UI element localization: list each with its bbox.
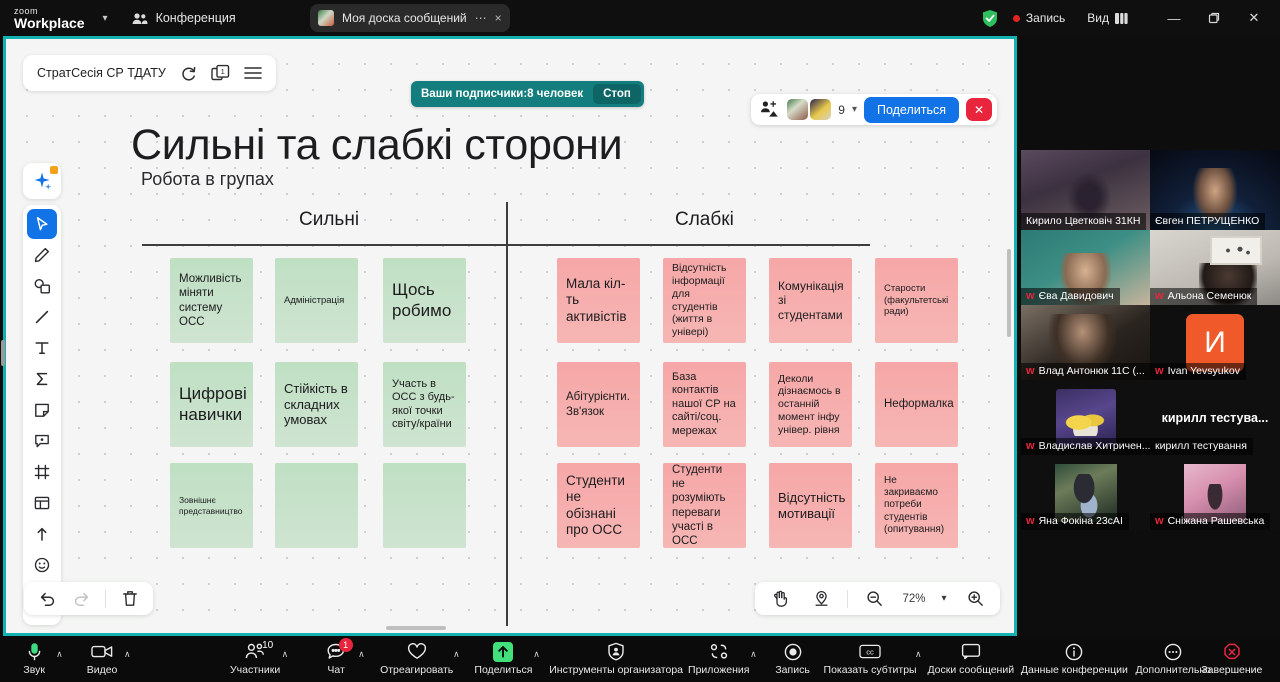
hand-tool[interactable]	[765, 584, 795, 614]
reactions-label: Отреагировать	[380, 664, 453, 676]
sticky-note[interactable]: Стійкість в складних умовах	[275, 362, 358, 447]
ai-assistant-button[interactable]	[23, 163, 61, 199]
upload-tool[interactable]	[27, 519, 57, 549]
comment-tool[interactable]	[27, 426, 57, 456]
muted-microphone-icon: w	[1026, 440, 1035, 452]
participant-name-label: w Яна Фокіна 23сАI	[1021, 513, 1129, 530]
horizontal-scrollbar[interactable]	[386, 626, 446, 630]
participant-avatars	[787, 99, 831, 120]
participant-name: кирилл тестування	[1155, 440, 1247, 452]
sticky-note-text: Абітурієнти. Зв'язок	[566, 390, 631, 418]
participant-count: 9	[838, 103, 845, 117]
sticky-note[interactable]	[275, 463, 358, 548]
vertical-scrollbar[interactable]	[1007, 249, 1011, 337]
location-tool[interactable]	[806, 584, 836, 614]
subscribers-banner: Ваши подписчики:8 человек Стоп	[411, 81, 644, 107]
chevron-down-icon[interactable]: ▾	[852, 104, 857, 115]
tab-close-icon[interactable]: ×	[495, 11, 502, 25]
redo-button[interactable]	[66, 584, 96, 614]
whiteboard-tool-stack	[23, 205, 61, 625]
reactions-button[interactable]: Отреагировать	[385, 643, 448, 676]
sticky-note-text: База контактів нашої СР на сайті/соц. ме…	[672, 371, 737, 438]
participant-name: Влад Антонюк 11С (...	[1039, 365, 1145, 377]
sticky-note-text: Не закриваємо потреби студентів (опитува…	[884, 475, 949, 536]
video-tile[interactable]: Євген ПЕТРУЩЕНКО	[1150, 150, 1280, 230]
video-tile[interactable]: w Владислав Хитричен...	[1021, 380, 1150, 455]
participant-name-label: w Єва Давидович	[1021, 288, 1120, 305]
sticky-note-text: Відсутність мотивації	[778, 490, 843, 522]
sticky-note-text: Старости (факультетські ради)	[884, 283, 949, 318]
sticky-note[interactable]: Цифрові навички	[170, 362, 253, 447]
sticky-note[interactable]: Відсутність мотивації	[769, 463, 852, 548]
video-row: w Яна Фокіна 23сАI w Сніжана Рашевська	[1021, 455, 1280, 530]
host-tools-button[interactable]: Инструменты организатора	[559, 643, 674, 676]
muted-microphone-icon: w	[1155, 515, 1164, 527]
vertical-divider	[506, 202, 508, 626]
whiteboard-tab[interactable]: Моя доска сообщений ⋯ ×	[310, 4, 510, 32]
whiteboard-header-chip: СтратСесія СР ТДАТУ 1	[23, 55, 276, 91]
audio-button[interactable]: Звук	[17, 643, 51, 676]
sticky-note[interactable]: Абітурієнти. Зв'язок	[557, 362, 640, 447]
muted-microphone-icon: w	[1155, 365, 1164, 377]
title-bar-right-controls: Запись Вид — ✕	[981, 0, 1280, 36]
share-screen-icon	[493, 643, 513, 661]
text-tool[interactable]	[27, 333, 57, 363]
sticky-note[interactable]: Адміністрація	[275, 258, 358, 343]
zoom-controls: 72% ▾	[755, 582, 1000, 615]
video-tile[interactable]: w Альона Семенюк	[1150, 230, 1280, 305]
video-tile[interactable]: w Влад Антонюк 11С (...	[1021, 305, 1150, 380]
apps-options-caret[interactable]: ∧	[750, 649, 757, 660]
sticky-note[interactable]	[383, 463, 466, 548]
sticky-note-tool[interactable]	[27, 395, 57, 425]
participant-name: Сніжана Рашевська	[1168, 515, 1265, 527]
captions-icon: cc	[859, 643, 881, 661]
pen-tool[interactable]	[27, 240, 57, 270]
zoom-app-window: zoom Workplace ▾ Конференция Моя доска с…	[0, 0, 1280, 682]
participant-name-label: кирилл тестування	[1150, 438, 1253, 455]
more-icon	[1164, 643, 1182, 661]
captions-button[interactable]: cc Показать субтитры	[830, 643, 910, 676]
host-tools-label: Инструменты организатора	[549, 664, 683, 676]
whiteboard-canvas[interactable]: Сильні та слабкі сторони Робота в групах…	[6, 39, 1014, 633]
meeting-info-label: Данные конференции	[1021, 664, 1128, 676]
participant-name-label: w Владислав Хитричен...	[1021, 438, 1150, 455]
participant-name: Ivan Yevsyukov	[1168, 365, 1240, 377]
avatar	[787, 99, 808, 120]
record-dot-icon	[1013, 15, 1020, 22]
sticky-note[interactable]: База контактів нашої СР на сайті/соц. ме…	[663, 362, 746, 447]
participant-name-label: w Сніжана Рашевська	[1150, 513, 1270, 530]
chevron-down-icon[interactable]: ▾	[103, 13, 108, 24]
delete-button[interactable]	[115, 584, 145, 614]
refresh-icon[interactable]	[180, 65, 197, 82]
emoji-tool[interactable]	[27, 550, 57, 580]
zoom-divider	[847, 590, 848, 608]
whiteboard-icon	[961, 643, 981, 661]
video-row: w Владислав Хитричен... кирилл тестува..…	[1021, 380, 1280, 455]
participant-name: Владислав Хитричен...	[1039, 440, 1150, 452]
video-row: w Влад Антонюк 11С (... И w Ivan Yevsyuk…	[1021, 305, 1280, 380]
video-tile[interactable]: w Сніжана Рашевська	[1150, 455, 1280, 530]
participants-label: Участники	[230, 664, 280, 676]
sticky-note[interactable]: Мала кіл-ть активістів	[557, 258, 640, 343]
participant-video-strip: Кирило Цветковіч 31КН Євген ПЕТРУЩЕНКО w…	[1021, 150, 1280, 530]
end-meeting-button[interactable]: Завершение	[1206, 643, 1258, 676]
video-row: Кирило Цветковіч 31КН Євген ПЕТРУЩЕНКО	[1021, 150, 1280, 230]
participants-options-caret[interactable]: ∧	[282, 649, 289, 660]
share-button[interactable]: Поделиться	[864, 97, 959, 123]
captions-options-caret[interactable]: ∧	[915, 649, 922, 660]
end-meeting-label: Завершение	[1201, 664, 1262, 676]
column-heading-weak: Слабкі	[675, 209, 734, 231]
participant-name: Альона Семенюк	[1168, 290, 1252, 302]
record-button[interactable]: Запись	[776, 643, 810, 676]
apps-icon	[709, 643, 729, 661]
heart-icon	[407, 643, 427, 661]
chat-options-caret[interactable]: ∧	[358, 649, 365, 660]
muted-microphone-icon: w	[1026, 515, 1035, 527]
zoom-level: 72%	[900, 593, 928, 605]
participant-name: Яна Фокіна 23сАI	[1039, 515, 1123, 527]
column-heading-strong: Сильні	[299, 209, 359, 231]
minimize-button[interactable]: —	[1154, 0, 1194, 36]
zoom-in-button[interactable]	[960, 584, 990, 614]
video-tile[interactable]: Кирило Цветковіч 31КН	[1021, 150, 1150, 230]
sticky-note[interactable]: Участь в ОСС з будь-якої точки світу/кра…	[383, 362, 466, 447]
select-tool[interactable]	[27, 209, 57, 239]
svg-text:1: 1	[220, 67, 224, 76]
participant-name-label: w Альона Семенюк	[1150, 288, 1257, 305]
sticky-note-text: Цифрові навички	[179, 384, 244, 425]
sticky-note-text: Студенти не обізнані про ОСС	[566, 473, 631, 539]
frame-tool[interactable]	[27, 457, 57, 487]
meeting-toolbar: Звук ∧ Видео ∧ 10 Участники ∧ 1 Чат	[0, 636, 1280, 682]
apps-button[interactable]: Приложения	[692, 643, 745, 676]
muted-microphone-icon: w	[1155, 290, 1164, 302]
microphone-icon	[27, 643, 42, 661]
sticky-note-text: Щось робимо	[392, 280, 457, 321]
participant-name-label: Євген ПЕТРУЩЕНКО	[1150, 213, 1265, 230]
security-shield-icon[interactable]	[981, 9, 999, 28]
chat-icon: 1	[327, 643, 346, 661]
more-button[interactable]: Дополнительно	[1141, 643, 1206, 676]
chat-label: Чат	[327, 664, 344, 676]
more-label: Дополнительно	[1135, 664, 1211, 676]
share-options-caret[interactable]: ∧	[533, 649, 540, 660]
sticky-note[interactable]: Комунікація зі студентами	[769, 258, 852, 343]
pages-icon[interactable]: 1	[211, 64, 230, 82]
muted-microphone-icon: w	[1026, 290, 1035, 302]
participants-icon	[132, 12, 148, 25]
undo-button[interactable]	[32, 584, 62, 614]
whiteboards-label: Доски сообщений	[927, 664, 1014, 676]
video-row: w Єва Давидович w Альона Семенюк	[1021, 230, 1280, 305]
captions-label: Показать субтитры	[824, 664, 917, 676]
chat-unread-badge: 1	[339, 638, 353, 652]
apps-label: Приложения	[688, 664, 749, 676]
participant-name-label: Кирило Цветковіч 31КН	[1021, 213, 1146, 230]
sticky-note[interactable]: Старости (факультетські ради)	[875, 258, 958, 343]
audio-label: Звук	[23, 664, 45, 676]
sticky-note[interactable]: Деколи дізнаємось в останній момент інфу…	[769, 362, 852, 447]
share-screen-button[interactable]: Поделиться	[479, 643, 529, 676]
layout-grid-icon	[1115, 13, 1128, 24]
record-label: Запись	[775, 664, 809, 676]
sticky-note-text: Мала кіл-ть активістів	[566, 276, 631, 325]
video-label: Видео	[87, 664, 118, 676]
participant-name-label: w Влад Антонюк 11С (...	[1021, 363, 1150, 380]
panel-resize-handle[interactable]	[1, 340, 5, 366]
participant-name: Євген ПЕТРУЩЕНКО	[1155, 215, 1259, 227]
whiteboard-toolbar	[23, 163, 61, 625]
sticky-note-text: Зовнішнє представництво	[179, 495, 244, 516]
info-icon	[1065, 643, 1083, 661]
sticky-note[interactable]: Студенти не обізнані про ОСС	[557, 463, 640, 548]
participant-name-label: w Ivan Yevsyukov	[1150, 363, 1246, 380]
close-button[interactable]: ✕	[1234, 0, 1274, 36]
recording-indicator[interactable]: Запись	[1013, 11, 1065, 25]
stop-share-button[interactable]: ✕	[966, 98, 992, 121]
sticky-note-text: Деколи дізнаємось в останній момент інфу…	[778, 373, 843, 437]
participant-name: Кирило Цветковіч 31КН	[1026, 215, 1140, 227]
sticky-note[interactable]: Студенти не розуміють переваги участі в …	[663, 463, 746, 548]
meeting-tab[interactable]: Конференция	[132, 11, 236, 25]
shield-icon	[607, 643, 625, 661]
participants-count: 10	[262, 640, 273, 651]
ai-badge-icon	[50, 166, 58, 174]
whiteboard-tab-label: Моя доска сообщений	[342, 11, 467, 25]
whiteboard-name: СтратСесія СР ТДАТУ	[37, 66, 166, 80]
sticky-note-text: Стійкість в складних умовах	[284, 381, 349, 429]
formula-tool[interactable]	[27, 364, 57, 394]
template-tool[interactable]	[27, 488, 57, 518]
sticky-note[interactable]: Щось робимо	[383, 258, 466, 343]
title-bar: zoom Workplace ▾ Конференция Моя доска с…	[0, 0, 1280, 36]
history-divider	[105, 590, 106, 608]
sticky-note-text: Відсутність інформації для студентів (жи…	[672, 262, 737, 339]
meeting-tab-label: Конференция	[156, 11, 236, 25]
sticky-note-text: Адміністрація	[284, 295, 349, 307]
sticky-note[interactable]: Зовнішнє представництво	[170, 463, 253, 548]
meeting-info-button[interactable]: Данные конференции	[1029, 643, 1121, 676]
reactions-options-caret[interactable]: ∧	[453, 649, 460, 660]
line-tool[interactable]	[27, 302, 57, 332]
stop-subscribers-button[interactable]: Стоп	[593, 84, 641, 104]
invite-participants-icon[interactable]	[760, 100, 780, 119]
video-tile[interactable]: w Єва Давидович	[1021, 230, 1150, 305]
chat-button[interactable]: 1 Чат	[319, 643, 353, 676]
audio-options-caret[interactable]: ∧	[56, 649, 63, 660]
zoom-out-button[interactable]	[859, 584, 889, 614]
view-button[interactable]: Вид	[1087, 11, 1128, 25]
whiteboard-tab-thumbnail-icon	[318, 10, 334, 26]
sticky-note[interactable]: Неформалка	[875, 362, 958, 447]
menu-icon[interactable]	[244, 66, 262, 80]
svg-text:cc: cc	[866, 647, 874, 656]
end-call-icon	[1223, 643, 1241, 661]
avatar	[810, 99, 831, 120]
shared-content-frame: Сильні та слабкі сторони Робота в групах…	[3, 36, 1017, 636]
tab-more-icon[interactable]: ⋯	[475, 11, 487, 25]
video-tile[interactable]: кирилл тестува... кирилл тестування	[1150, 380, 1280, 455]
participants-button[interactable]: 10 Участники	[234, 643, 277, 676]
background-map-decor	[1210, 236, 1262, 265]
sticky-note-text: Неформалка	[884, 397, 949, 411]
sticky-note-text: Можливість міняти систему ОСС	[179, 272, 244, 328]
video-options-caret[interactable]: ∧	[124, 649, 131, 660]
participants-icon: 10	[245, 643, 265, 661]
maximize-button[interactable]	[1194, 0, 1234, 36]
sticky-note[interactable]: Не закриваємо потреби студентів (опитува…	[875, 463, 958, 548]
view-label: Вид	[1087, 11, 1109, 25]
subscribers-text: Ваши подписчики:8 человек	[411, 88, 593, 100]
board-title: Сильні та слабкі сторони	[131, 121, 622, 170]
chevron-down-icon[interactable]: ▾	[939, 593, 949, 604]
share-controls-pill: 9 ▾ Поделиться ✕	[751, 94, 997, 125]
sticky-note[interactable]: Можливість міняти систему ОСС	[170, 258, 253, 343]
record-icon	[784, 643, 802, 661]
video-tile[interactable]: И w Ivan Yevsyukov	[1150, 305, 1280, 380]
recording-label: Запись	[1026, 11, 1065, 25]
board-subtitle: Робота в групах	[141, 169, 274, 190]
camera-icon	[91, 643, 113, 661]
muted-microphone-icon: w	[1026, 365, 1035, 377]
sticky-note-text: Комунікація зі студентами	[778, 279, 843, 323]
share-screen-label: Поделиться	[474, 664, 532, 676]
sticky-note[interactable]: Відсутність інформації для студентів (жи…	[663, 258, 746, 343]
zoom-logo: zoom Workplace	[14, 7, 85, 30]
history-controls	[24, 582, 153, 615]
whiteboards-button[interactable]: Доски сообщений	[934, 643, 1008, 676]
sticky-note-text: Студенти не розуміють переваги участі в …	[672, 463, 737, 547]
video-button[interactable]: Видео	[85, 643, 119, 676]
zoom-logo-line2: Workplace	[14, 16, 85, 30]
sticky-note-text: Участь в ОСС з будь-якої точки світу/кра…	[392, 378, 457, 432]
participant-name: Єва Давидович	[1039, 290, 1114, 302]
shapes-tool[interactable]	[27, 271, 57, 301]
video-tile[interactable]: w Яна Фокіна 23сАI	[1021, 455, 1150, 530]
